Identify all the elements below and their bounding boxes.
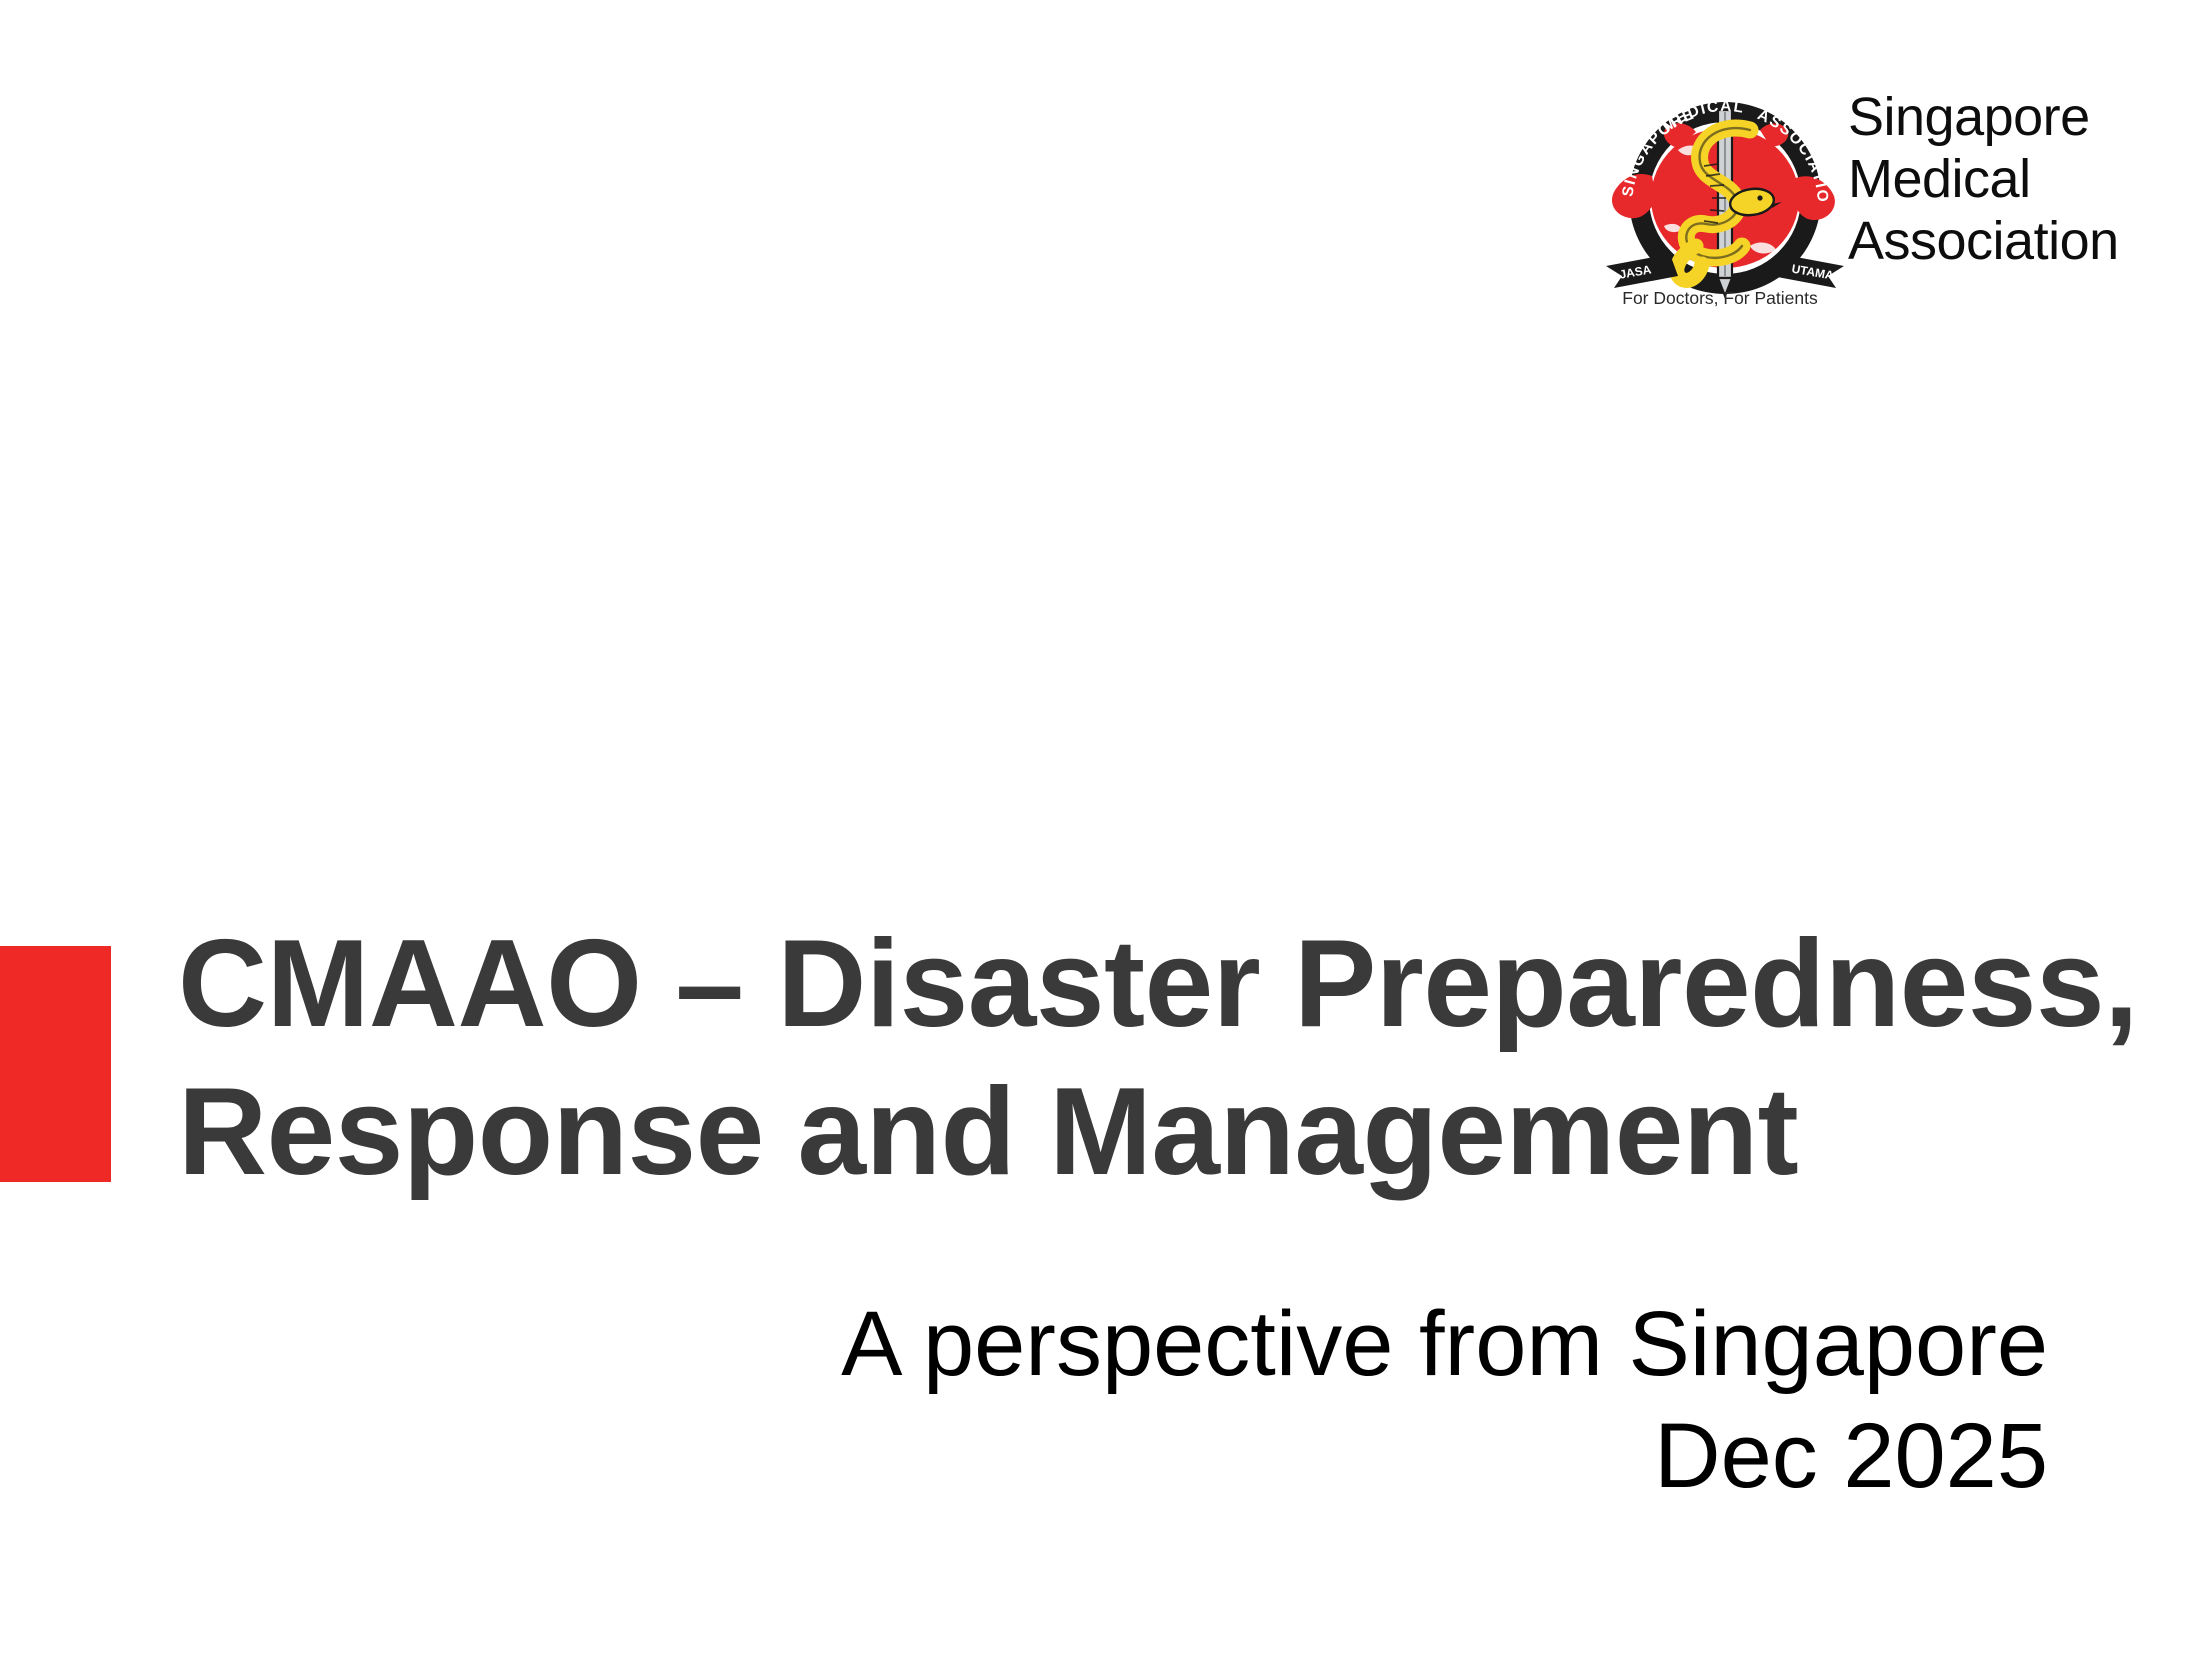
- logo-wordmark-line-1: Singapore: [1848, 86, 2120, 148]
- slide-title-line-2: Response and Management: [178, 1058, 2039, 1206]
- logo-wordmark-line-3: Association: [1848, 210, 2120, 272]
- slide-subtitle-date: Dec 2025: [500, 1400, 2048, 1512]
- slide-title: CMAAO – Disaster Preparedness, Response …: [178, 910, 2048, 1206]
- slide-subtitle: A perspective from Singapore Dec 2025: [500, 1288, 2048, 1512]
- sma-logo: SINGAPORE MEDICAL ASSOCIATION JASA UTAMA…: [1600, 78, 2120, 308]
- logo-wordmark: Singapore Medical Association: [1848, 86, 2120, 272]
- logo-wordmark-line-2: Medical: [1848, 148, 2120, 210]
- presentation-slide: SINGAPORE MEDICAL ASSOCIATION JASA UTAMA…: [0, 0, 2205, 1654]
- slide-subtitle-line-1: A perspective from Singapore: [500, 1288, 2048, 1400]
- slide-title-line-1: CMAAO – Disaster Preparedness,: [178, 910, 2039, 1058]
- logo-tagline: For Doctors, For Patients: [1622, 288, 1818, 308]
- sma-emblem-icon: SINGAPORE MEDICAL ASSOCIATION JASA UTAMA…: [1600, 78, 1850, 308]
- red-accent-bar: [0, 946, 111, 1182]
